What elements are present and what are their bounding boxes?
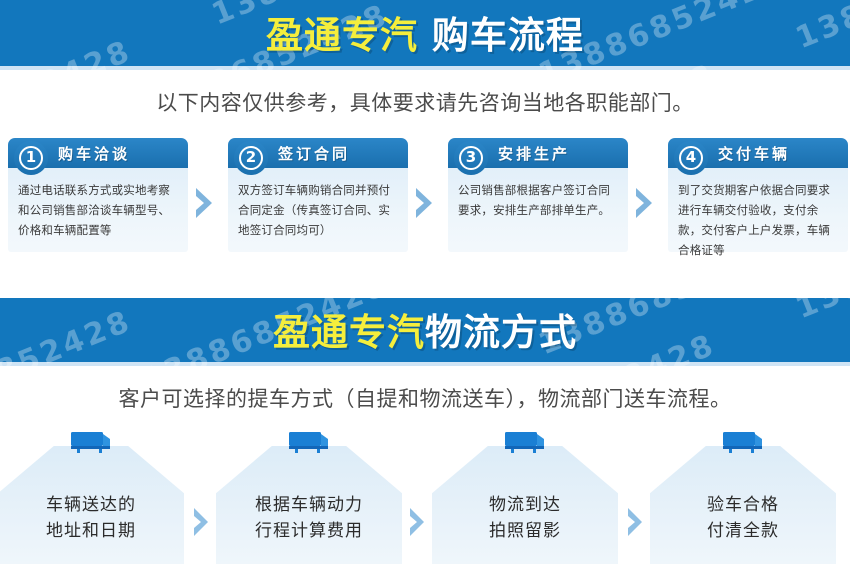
banner-2-title: 盈通专汽物流方式 [273,314,577,351]
purchase-step-3-body: 公司销售部根据客户签订合同要求，安排生产部排单生产。 [448,168,628,252]
logistics-step-3-line2: 拍照留影 [489,518,561,544]
purchase-step-1-number: 1 [19,146,43,170]
purchase-step-card-3: 3 安排生产 公司销售部根据客户签订合同要求，安排生产部排单生产。 [448,138,628,252]
chevron-right-icon [624,506,648,538]
logistics-step-1-text: 车辆送达的 地址和日期 [0,446,184,564]
truck-icon [286,430,332,456]
logistics-step-card-4: 验车合格 付清全款 [650,446,836,564]
chevron-right-icon [406,506,430,538]
logistics-step-4-text: 验车合格 付清全款 [650,446,836,564]
logistics-steps-row: 车辆送达的 地址和日期 根据车辆动力 行程计算费用 [0,428,850,564]
truck-icon [502,430,548,456]
purchase-flow-subtitle: 以下内容仅供参考，具体要求请先咨询当地各职能部门。 [0,87,850,117]
purchase-step-3-header: 3 安排生产 [448,138,628,168]
chevron-right-icon [190,506,214,538]
logistics-step-4-line1: 验车合格 [707,492,779,518]
purchase-step-4-number-badge: 4 [674,141,708,175]
purchase-step-card-1: 1 购车洽谈 通过电话联系方式或实地考察和公司销售部洽谈车辆型号、价格和车辆配置… [8,138,188,252]
purchase-step-4-header: 4 交付车辆 [668,138,848,168]
truck-icon [68,430,114,456]
purchase-step-4-body: 到了交货期客户依据合同要求进行车辆交付验收，支付余款，交付客户上户发票，车辆合格… [668,168,848,252]
purchase-step-1-title: 购车洽谈 [58,143,130,164]
purchase-step-3-number: 3 [459,146,483,170]
purchase-step-card-2: 2 签订合同 双方签订车辆购销合同并预付合同定金（传真签订合同、实地签订合同均可… [228,138,408,252]
purchase-step-2-header: 2 签订合同 [228,138,408,168]
chevron-right-icon [632,186,658,220]
purchase-step-card-4: 4 交付车辆 到了交货期客户依据合同要求进行车辆交付验收，支付余款，交付客户上户… [668,138,848,252]
purchase-step-1-body: 通过电话联系方式或实地考察和公司销售部洽谈车辆型号、价格和车辆配置等 [8,168,188,252]
purchase-step-2-title: 签订合同 [278,143,350,164]
banner-1-title-rest: 购车流程 [418,14,584,57]
banner-1-title-highlight: 盈通专汽 [266,14,418,57]
truck-icon [720,430,766,456]
purchase-step-4-number: 4 [679,146,703,170]
banner-2-title-rest: 物流方式 [425,311,577,354]
logistics-step-2-line2: 行程计算费用 [255,518,363,544]
banner-1-title: 盈通专汽 购车流程 [266,17,584,54]
logistics-step-1-line2: 地址和日期 [46,518,136,544]
logistics-banner: 1388685242813886852428138868524281388685… [0,298,850,366]
logistics-step-card-2: 根据车辆动力 行程计算费用 [216,446,402,564]
banner-2-title-highlight: 盈通专汽 [273,311,425,354]
purchase-step-1-header: 1 购车洽谈 [8,138,188,168]
purchase-step-2-body: 双方签订车辆购销合同并预付合同定金（传真签订合同、实地签订合同均可） [228,168,408,252]
logistics-step-4-line2: 付清全款 [707,518,779,544]
purchase-step-3-number-badge: 3 [454,141,488,175]
purchase-step-2-number: 2 [239,146,263,170]
purchase-step-4-title: 交付车辆 [718,143,790,164]
logistics-step-1-line1: 车辆送达的 [46,492,136,518]
purchase-flow-banner: 1388685242813886852428138868524281388685… [0,0,850,70]
logistics-subtitle: 客户可选择的提车方式（自提和物流送车），物流部门送车流程。 [0,383,850,413]
logistics-step-3-line1: 物流到达 [489,492,561,518]
purchase-step-1-number-badge: 1 [14,141,48,175]
promo-page: 1388685242813886852428138868524281388685… [0,0,850,564]
chevron-right-icon [192,186,218,220]
purchase-step-3-title: 安排生产 [498,143,570,164]
logistics-step-card-1: 车辆送达的 地址和日期 [0,446,184,564]
purchase-steps-row: 1 购车洽谈 通过电话联系方式或实地考察和公司销售部洽谈车辆型号、价格和车辆配置… [0,138,850,258]
logistics-step-3-text: 物流到达 拍照留影 [432,446,618,564]
logistics-step-2-line1: 根据车辆动力 [255,492,363,518]
logistics-step-card-3: 物流到达 拍照留影 [432,446,618,564]
chevron-right-icon [412,186,438,220]
purchase-step-2-number-badge: 2 [234,141,268,175]
logistics-step-2-text: 根据车辆动力 行程计算费用 [216,446,402,564]
